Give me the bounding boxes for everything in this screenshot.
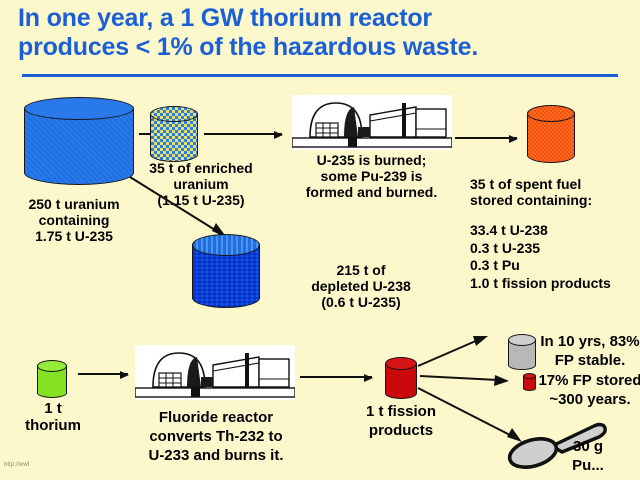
stable-fp-cylinder [508,334,536,370]
depleted-line3: (0.6 t U-235) [266,294,456,310]
arrow-thorium-to-fluoride-reactor [78,373,128,375]
reactor-top-line1: U-235 is burned; [284,152,459,168]
page-title-line2: produces < 1% of the hazardous waste. [18,33,628,62]
spent-fuel-item-0: 33.4 t U-238 [470,222,640,240]
thorium-label: 1 t thorium [2,400,104,434]
slide-canvas: In one year, a 1 GW thorium reactor prod… [0,0,640,480]
cylinder-top-ellipse [24,97,134,120]
outcome-stored-label: 17% FP stored ~300 years. [538,371,640,409]
arrow-reactor-to-spent-fuel [455,137,517,139]
fluoride-reactor-line1: Fluoride reactor [126,408,306,427]
uranium-feed-line1: 250 t uranium [4,196,144,212]
spent-fuel-cylinder [527,105,575,163]
spent-fuel-item-3: 1.0 t fission products [470,275,640,293]
reactor-top-caption: U-235 is burned; some Pu-239 is formed a… [284,152,459,200]
cylinder-top-ellipse [523,373,536,379]
fission-products-cylinder [385,357,417,399]
arrow-reactor-to-fission-products [300,376,372,378]
cylinder-top-ellipse [192,234,260,256]
outcome-plutonium-label: 30 g Pu... [548,437,628,475]
cylinder-top-ellipse [508,334,536,346]
spent-fuel-composition-list: 33.4 t U-238 0.3 t U-235 0.3 t Pu 1.0 t … [470,222,640,292]
spent-fuel-item-2: 0.3 t Pu [470,257,640,275]
uranium-feed-line2: containing [4,212,144,228]
enriched-line1: 35 t of enriched [126,160,276,176]
title-underline-rule [22,74,618,77]
outcome-plutonium-line1: 30 g [548,437,628,456]
spent-fuel-line1: 35 t of spent fuel [470,176,640,192]
reactor-top-line3: formed and burned. [284,184,459,200]
depleted-uranium-label: 215 t of depleted U-238 (0.6 t U-235) [266,262,456,310]
outcome-stored-line2: ~300 years. [538,390,640,409]
thorium-line2: thorium [2,417,104,434]
cylinder-top-ellipse [37,360,67,372]
outcome-plutonium-line2: Pu... [548,456,628,475]
reactor-top-line2: some Pu-239 is [284,168,459,184]
uranium-feed-cylinder [24,97,134,185]
spent-fuel-line2: stored containing: [470,192,640,208]
thorium-cylinder [37,360,67,398]
page-title-line1: In one year, a 1 GW thorium reactor [18,4,628,33]
uranium-feed-label: 250 t uranium containing 1.75 t U-235 [4,196,144,244]
outcome-stable-label: In 10 yrs, 83% FP stable. [538,332,640,370]
thorium-line1: 1 t [2,400,104,417]
fluoride-reactor-line3: U-233 and burns it. [126,446,306,465]
fluoride-reactor-caption: Fluoride reactor converts Th-232 to U-23… [126,408,306,465]
outcome-stored-line1: 17% FP stored [538,371,640,390]
depleted-uranium-cylinder [192,234,260,308]
arrow-enriched-to-reactor [204,133,282,135]
enriched-uranium-cylinder [150,106,198,162]
outcome-stable-line2: FP stable. [538,351,640,370]
depleted-line2: depleted U-238 [266,278,456,294]
spent-fuel-label: 35 t of spent fuel stored containing: [470,176,640,208]
depleted-line1: 215 t of [266,262,456,278]
page-title: In one year, a 1 GW thorium reactor prod… [18,4,628,62]
stored-fp-cylinder [523,373,536,391]
uranium-feed-line3: 1.75 t U-235 [4,228,144,244]
cylinder-top-ellipse [385,357,417,370]
cylinder-top-ellipse [527,105,575,122]
fluoride-reactor-line2: converts Th-232 to [126,427,306,446]
spent-fuel-item-1: 0.3 t U-235 [470,240,640,258]
cylinder-top-ellipse [150,106,198,122]
watermark-url: http://wwf [4,462,29,468]
nuclear-plant-icon-bottom [135,345,295,400]
outcome-stable-line1: In 10 yrs, 83% [538,332,640,351]
nuclear-plant-icon-top [292,95,452,150]
